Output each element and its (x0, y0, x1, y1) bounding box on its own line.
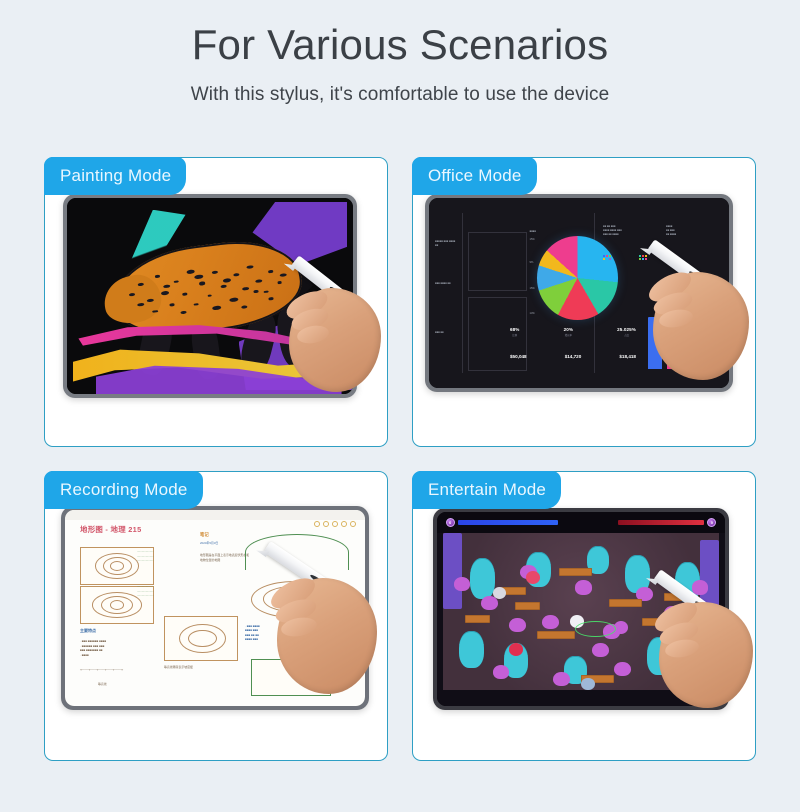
tablet-device-notes: 地形图 - 地理 215 ∙∙∙∙∙∙∙∙∙∙∙∙∙∙∙∙∙∙∙∙∙∙∙∙∙∙∙… (61, 506, 369, 710)
arena-wall (700, 540, 719, 609)
scenario-card-painting[interactable]: Painting Mode (44, 157, 388, 447)
pie-axis-label: 15% (530, 238, 535, 241)
game-arena (443, 533, 720, 690)
scenario-card-recording[interactable]: 地形图 - 地理 215 ∙∙∙∙∙∙∙∙∙∙∙∙∙∙∙∙∙∙∙∙∙∙∙∙∙∙∙… (44, 471, 388, 761)
red-team-bar (618, 520, 705, 525)
bush (686, 624, 711, 665)
crate-barrier (515, 602, 540, 610)
game-view: 6 5 (437, 512, 725, 706)
divider (462, 213, 463, 373)
river-note-text: · ■■■ ■■■■ ■■■■ ■■■ ■■■ ■■ ■■ ■■■■ ■■■ (245, 624, 305, 642)
note-app-toolbar[interactable] (65, 510, 365, 520)
side-note-text-2: ■■■ ■■■■ ■■ (435, 282, 459, 286)
money-value: $14,720 (565, 354, 582, 359)
pie-axis-label: 9% (530, 261, 534, 264)
stat-item: 20% 增长率 (564, 327, 574, 337)
note-toolbar-icons[interactable] (314, 521, 356, 527)
page-subtitle: With this stylus, it's comfortable to us… (0, 84, 800, 106)
color-swatch-grid-2 (639, 255, 647, 260)
tablet-device-office: ■■■■■ ■■■ ■■■■ ■■ ■■■ ■■■■ ■■ ■■■ ■■ ■■■… (425, 194, 733, 392)
pie-axis-label: 15% (530, 287, 535, 290)
entertain-screenshot: 6 5 (413, 472, 755, 760)
note-scale-caption: 等高线 (98, 682, 107, 687)
badge-recording-mode: Recording Mode (44, 471, 203, 509)
scenario-card-grid: Painting Mode ■■■■■ ■■■ ■■■■ ■■ ■■■ ■■■■… (44, 157, 756, 767)
recording-screenshot: 地形图 - 地理 215 ∙∙∙∙∙∙∙∙∙∙∙∙∙∙∙∙∙∙∙∙∙∙∙∙∙∙∙… (45, 472, 387, 760)
blue-team-bar (458, 520, 558, 525)
scenario-card-entertain[interactable]: 6 5 (412, 471, 756, 761)
note-footer-text: 等高线稀疏表示坡度缓 (164, 665, 236, 670)
bar (706, 302, 720, 369)
stat-value: 25.025% (617, 327, 636, 332)
eraser-icon (332, 521, 338, 527)
tablet-screen-notes: 地形图 - 地理 215 ∙∙∙∙∙∙∙∙∙∙∙∙∙∙∙∙∙∙∙∙∙∙∙∙∙∙∙… (65, 510, 365, 706)
rock-crystal (575, 580, 592, 594)
rock-crystal (553, 672, 570, 686)
tablet-device-painting (63, 194, 357, 398)
crate-barrier (559, 568, 592, 576)
stat-row-percent: 68% 比例 20% 增长率 25.025% 占比 (510, 327, 636, 337)
rock-crystal (509, 618, 526, 632)
badge-painting-mode: Painting Mode (44, 157, 186, 195)
red-team-score: 5 (707, 518, 716, 527)
stat-row-money: $50,048 $14,720 $18,418 (510, 354, 636, 359)
note-bullets: · ■■■ ■■■■■■ ■■■■ · ■■■■■■ ■■■ ■■■ ■■■ ■… (80, 639, 152, 657)
rock-crystal (692, 580, 709, 594)
rock-crystal (614, 662, 631, 676)
stat-value: 68% (510, 327, 520, 332)
stat-item: 68% 比例 (510, 327, 520, 337)
crate-barrier (609, 599, 642, 607)
bush (647, 637, 672, 675)
rock-crystal (493, 665, 510, 679)
game-character (526, 571, 540, 584)
game-character (614, 621, 628, 634)
rock-crystal (675, 659, 692, 673)
tablet-screen-game: 6 5 (437, 512, 725, 706)
pen-tool-icon (314, 521, 320, 527)
contour-ring (110, 561, 124, 571)
chart-axis-title: ■■■■ (530, 230, 536, 233)
blue-team-score: 6 (446, 518, 455, 527)
page-header: For Various Scenarios With this stylus, … (0, 0, 800, 106)
dashboard: ■■■■■ ■■■ ■■■■ ■■ ■■■ ■■■■ ■■ ■■■ ■■ ■■■… (429, 198, 729, 388)
contour-ring (110, 600, 124, 610)
contour-ring-large (263, 586, 322, 612)
page-title: For Various Scenarios (0, 22, 800, 68)
stat-value: 20% (564, 327, 574, 332)
money-value: $18,418 (619, 354, 636, 359)
right-panel-text-2: ■■■■■■ ■■■■■ ■■■■ (666, 225, 714, 238)
tablet-device-game: 6 5 (433, 508, 729, 710)
pie-chart (537, 236, 618, 320)
side-note-text-3: ■■■ ■■ (435, 331, 459, 335)
crate-barrier (664, 593, 689, 601)
handwritten-note-page: 地形图 - 地理 215 ∙∙∙∙∙∙∙∙∙∙∙∙∙∙∙∙∙∙∙∙∙∙∙∙∙∙∙… (65, 510, 365, 706)
scenario-card-office[interactable]: ■■■■■ ■■■ ■■■■ ■■ ■■■ ■■■■ ■■ ■■■ ■■ ■■■… (412, 157, 756, 447)
data-table-top (468, 232, 527, 291)
product-feature-page: For Various Scenarios With this stylus, … (0, 0, 800, 812)
color-swatch-grid-1 (603, 255, 611, 260)
right-panel-text: ■■ ■■ ■■■■■■■ ■■■■ ■■■■■■ ■■ ■■■■ (603, 225, 654, 238)
tablet-screen-office: ■■■■■ ■■■ ■■■■ ■■ ■■■ ■■■■ ■■ ■■■ ■■ ■■■… (429, 198, 729, 388)
game-character (509, 643, 523, 656)
game-hud: 6 5 (437, 512, 725, 533)
money-value: $50,048 (510, 354, 527, 359)
note-section-header: 笔记 (200, 532, 209, 539)
stat-label: 占比 (617, 333, 636, 337)
side-note-text: ■■■■■ ■■■ ■■■■ ■■ (435, 240, 459, 248)
note-date: 2024年5月3日 (200, 541, 218, 546)
crate-barrier (537, 631, 576, 639)
bar-chart (648, 285, 720, 369)
dotted-graph-2: ∙∙∙∙∙∙∙∙∙∙∙∙∙∙∙∙∙∙∙∙∙∙∙∙∙∙∙∙∙∙∙∙∙∙∙∙∙∙∙∙… (137, 584, 191, 598)
bar (667, 295, 681, 369)
pie-axis-label: 13% (530, 312, 535, 315)
stat-item: 25.025% 占比 (617, 327, 636, 337)
dotted-graph-1: ∙∙∙∙∙∙∙∙∙∙∙∙∙∙∙∙∙∙∙∙∙∙∙∙∙∙∙∙∙∙∙∙∙∙∙∙∙∙∙∙… (137, 549, 191, 563)
bar (687, 307, 701, 369)
lasso-icon (341, 521, 347, 527)
leopard-artwork (67, 198, 353, 394)
bush (470, 558, 495, 599)
more-icon (350, 521, 356, 527)
crate-barrier (642, 618, 670, 626)
rock-crystal (542, 615, 559, 629)
note-body-text: 地形图是在平面上表示地表起伏形态和地物位置的地图 (200, 553, 251, 562)
highlighter-icon (323, 521, 329, 527)
tablet-screen-painting (67, 198, 353, 394)
rock-crystal (592, 643, 609, 657)
arena-wall (443, 533, 462, 608)
crate-barrier (465, 615, 490, 623)
office-screenshot: ■■■■■ ■■■ ■■■■ ■■ ■■■ ■■■■ ■■ ■■■ ■■ ■■■… (413, 158, 755, 446)
stat-label: 增长率 (564, 333, 574, 337)
bush (459, 631, 484, 669)
badge-entertain-mode: Entertain Mode (412, 471, 561, 509)
badge-office-mode: Office Mode (412, 157, 537, 195)
bell-curve-graph (245, 534, 349, 570)
river-diagram-box (251, 659, 331, 696)
note-scale-diagram: ┬───┬───┬───┬───┬───┬ (80, 667, 158, 672)
note-title: 地形图 - 地理 215 (80, 524, 142, 535)
contour-ring (188, 630, 217, 648)
bar (648, 317, 662, 369)
stat-label: 比例 (510, 333, 520, 337)
painting-screenshot (45, 158, 387, 446)
note-section-header-2: 主要特点 (80, 628, 96, 634)
